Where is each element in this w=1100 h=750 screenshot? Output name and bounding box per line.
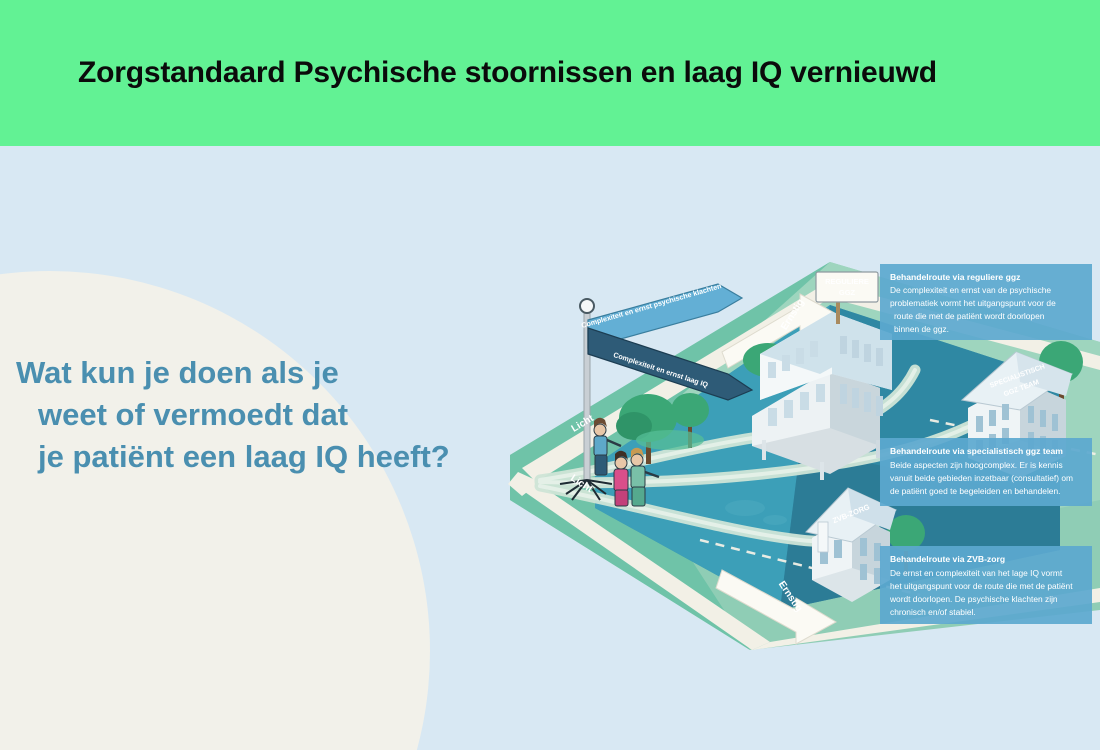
panel-3-line-1: De ernst en complexiteit van het lage IQ… xyxy=(890,568,1063,578)
person-pink xyxy=(614,451,628,506)
question-line-2: weet of vermoedt dat xyxy=(16,394,486,436)
panel-1-line-2: problematiek vormt het uitgangspunt voor… xyxy=(890,298,1056,308)
header-banner: Zorgstandaard Psychische stoornissen en … xyxy=(0,0,1100,146)
question-line-3: je patiënt een laag IQ heeft? xyxy=(16,436,486,478)
panel-1-line-1: De complexiteit en ernst van de psychisc… xyxy=(890,285,1051,295)
panel-3-line-2: het uitgangspunt voor de route die met d… xyxy=(890,581,1073,591)
panel-3-heading: Behandelroute via ZVB-zorg xyxy=(890,554,1005,564)
question-heading: Wat kun je doen als je weet of vermoedt … xyxy=(16,352,486,478)
panel-1-line-3: route die met de patiënt wordt doorlopen xyxy=(894,311,1045,321)
panel-3-line-4: chronisch en/of stabiel. xyxy=(890,607,976,617)
panel-2-line-3: de patiënt goed te begeleiden en behande… xyxy=(890,486,1060,496)
panel-2-line-1: Beide aspecten zijn hoogcomplex. Er is k… xyxy=(890,460,1063,470)
panel-3-line-3: wordt doorlopen. De psychische klachten … xyxy=(889,594,1058,604)
panel-2-heading: Behandelroute via specialistisch ggz tea… xyxy=(890,446,1063,456)
panel-1-line-4: binnen de ggz. xyxy=(894,324,949,334)
question-line-1: Wat kun je doen als je xyxy=(16,352,486,394)
panel-1-heading: Behandelroute via reguliere ggz xyxy=(890,272,1020,282)
slide-root: Zorgstandaard Psychische stoornissen en … xyxy=(0,0,1100,750)
infographic: REGULIERE GGZ xyxy=(500,250,1100,650)
panel-specialistisch-ggz-team: Behandelroute via specialistisch ggz tea… xyxy=(880,438,1092,506)
panel-2-line-2: vanuit beide gebieden inzetbaar (consult… xyxy=(890,473,1073,483)
page-title: Zorgstandaard Psychische stoornissen en … xyxy=(78,56,937,90)
panel-zvb-zorg: Behandelroute via ZVB-zorg De ernst en c… xyxy=(880,546,1092,624)
decorative-circle xyxy=(0,271,430,750)
sign-reguliere-ggz-line1: REGULIERE xyxy=(825,277,869,286)
panel-reguliere-ggz: Behandelroute via reguliere ggz De compl… xyxy=(880,264,1092,340)
sign-reguliere-ggz-line2: GGZ xyxy=(839,288,856,297)
